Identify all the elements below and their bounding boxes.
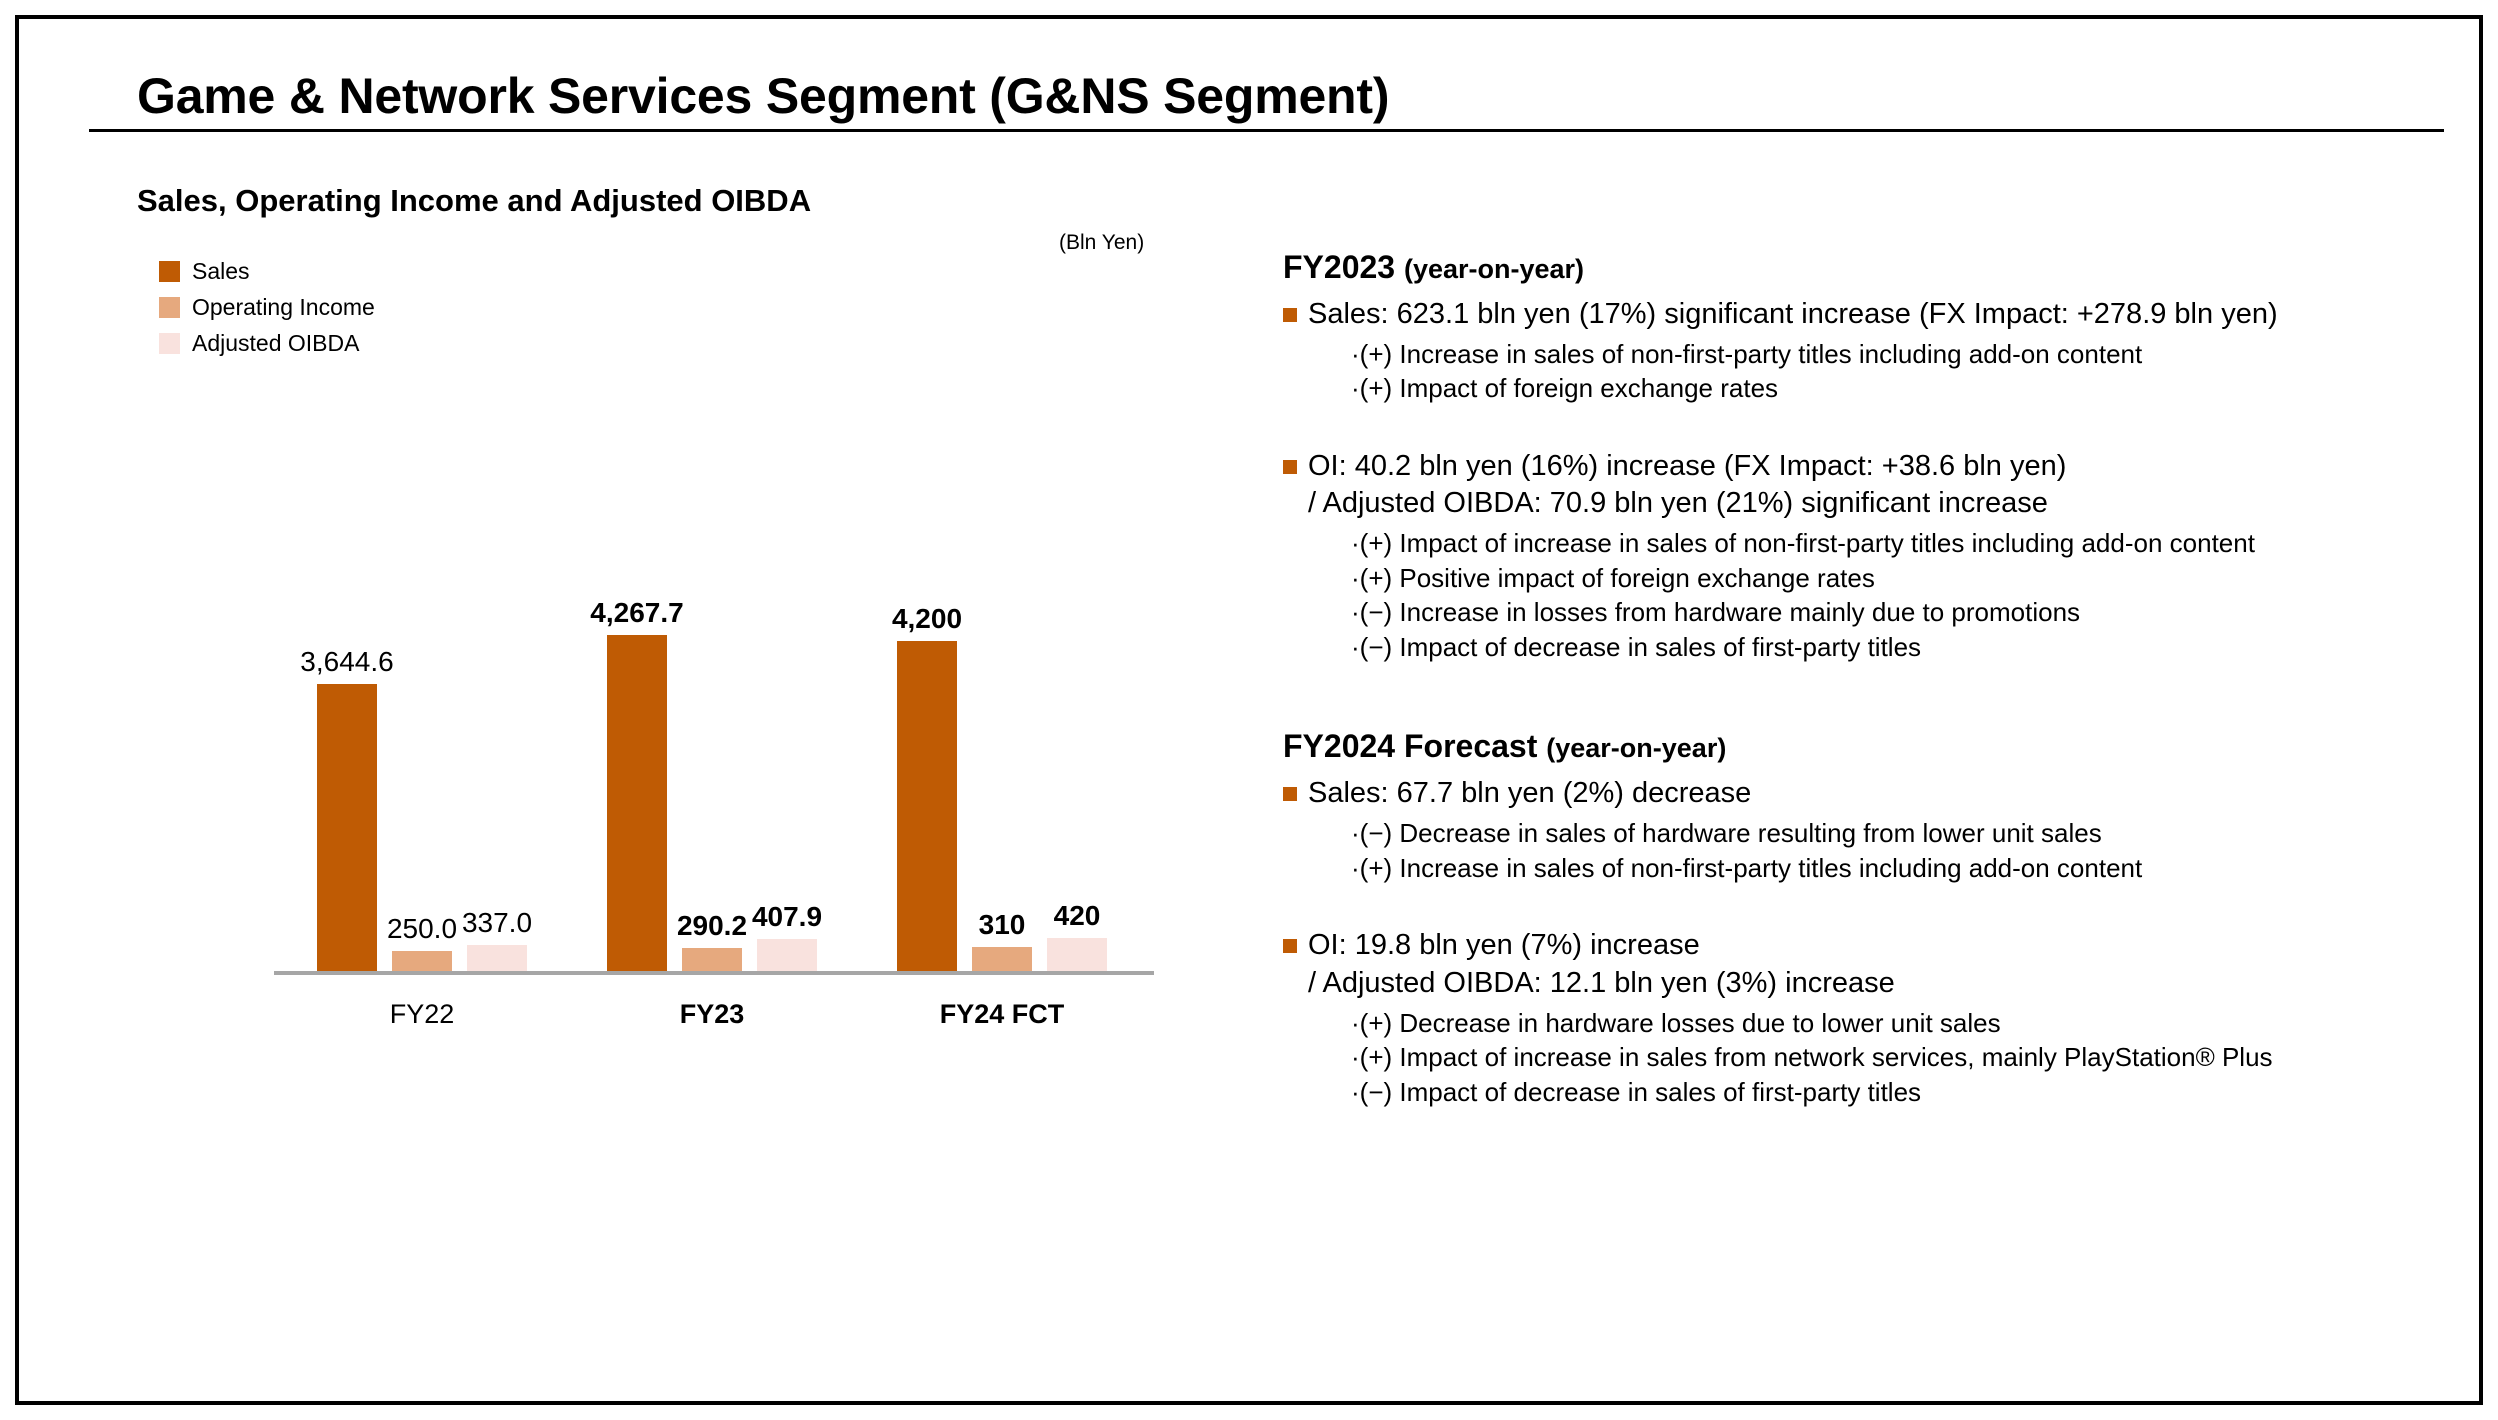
fy2024-oi-block: OI: 19.8 bln yen (7%) increase / Adjuste… [1283,927,2463,1109]
bar-value-label: 4,200 [817,603,1037,635]
bar-chart-plot: 3,644.6250.0337.04,267.7290.2407.94,2003… [274,509,1154,975]
bar-value-label: 420 [967,900,1187,932]
legend-item-label: Operating Income [192,296,375,319]
fy2023-sales-block: Sales: 623.1 bln yen (17%) significant i… [1283,296,2463,406]
bar-adjusted-oibda-fy24-fct [1047,938,1107,971]
fy2023-oi-text: OI: 40.2 bln yen (16%) increase (FX Impa… [1308,448,2066,486]
bullet-square-icon [1283,308,1297,322]
fy2023-heading: FY2023 (year-on-year) [1283,247,2463,288]
bar-group-fy23: 4,267.7290.2407.9 [607,505,817,971]
slide-frame: Game & Network Services Segment (G&NS Se… [15,15,2483,1405]
x-axis-label-fy22: FY22 [302,999,542,1030]
sub-line: ·(+) Impact of increase in sales from ne… [1351,1040,2463,1075]
legend-item-label: Sales [192,260,250,283]
sub-line: ·(+) Impact of increase in sales of non-… [1351,526,2463,561]
chart-legend: SalesOperating IncomeAdjusted OIBDA [159,253,375,361]
bar-operating-income-fy23 [682,948,742,971]
legend-item-label: Adjusted OIBDA [192,332,359,355]
fy2024-heading-main: FY2024 Forecast [1283,728,1537,764]
fy2024-oi-bullet: OI: 19.8 bln yen (7%) increase [1283,927,2463,965]
chart-panel: Sales, Operating Income and Adjusted OIB… [19,169,1199,1249]
fy2023-sales-bullet: Sales: 623.1 bln yen (17%) significant i… [1283,296,2463,334]
page-title-text: Game & Network Services Segment (G&NS Se… [137,67,2427,125]
title-underline [89,129,2444,132]
fy2023-oi-bullet: OI: 40.2 bln yen (16%) increase (FX Impa… [1283,448,2463,486]
sub-line: ·(+) Increase in sales of non-first-part… [1351,337,2463,372]
chart-title: Sales, Operating Income and Adjusted OIB… [137,183,811,219]
sub-line: ·(+) Positive impact of foreign exchange… [1351,561,2463,596]
sub-line: ·(−) Impact of decrease in sales of firs… [1351,1075,2463,1110]
fy2024-oi-text: OI: 19.8 bln yen (7%) increase [1308,927,1700,965]
chart-unit-label: (Bln Yen) [1059,231,1144,255]
legend-swatch-icon [159,297,180,318]
fy2023-sales-sublist: ·(+) Increase in sales of non-first-part… [1351,337,2463,406]
bar-operating-income-fy22 [392,951,452,971]
sub-line: ·(−) Impact of decrease in sales of firs… [1351,630,2463,665]
fy2024-heading-sub: (year-on-year) [1546,733,1726,763]
fy2024-oibda-text: / Adjusted OIBDA: 12.1 bln yen (3%) incr… [1308,965,2463,1003]
bullet-square-icon [1283,460,1297,474]
x-axis-label-fy24-fct: FY24 FCT [882,999,1122,1030]
x-axis-label-fy23: FY23 [592,999,832,1030]
fy2023-sales-text: Sales: 623.1 bln yen (17%) significant i… [1308,296,2278,334]
bar-adjusted-oibda-fy22 [467,945,527,972]
fy2024-heading: FY2024 Forecast (year-on-year) [1283,726,2463,767]
legend-swatch-icon [159,261,180,282]
bar-value-label: 4,267.7 [527,597,747,629]
legend-item-operating-income: Operating Income [159,289,375,325]
sub-line: ·(+) Increase in sales of non-first-part… [1351,851,2463,886]
fy2024-sales-text: Sales: 67.7 bln yen (2%) decrease [1308,775,1751,813]
fy2023-heading-main: FY2023 [1283,249,1395,285]
sub-line: ·(+) Impact of foreign exchange rates [1351,371,2463,406]
fy2024-sales-block: Sales: 67.7 bln yen (2%) decrease ·(−) D… [1283,775,2463,885]
bar-adjusted-oibda-fy23 [757,939,817,971]
section-fy2024-forecast: FY2024 Forecast (year-on-year) Sales: 67… [1283,726,2463,1109]
legend-item-sales: Sales [159,253,375,289]
legend-item-adjusted-oibda: Adjusted OIBDA [159,325,375,361]
page-title: Game & Network Services Segment (G&NS Se… [137,67,2427,125]
commentary-panel: FY2023 (year-on-year) Sales: 623.1 bln y… [1283,247,2463,1109]
fy2024-sales-sublist: ·(−) Decrease in sales of hardware resul… [1351,816,2463,885]
fy2023-oi-block: OI: 40.2 bln yen (16%) increase (FX Impa… [1283,448,2463,665]
bar-group-fy24-fct: 4,200310420 [897,505,1107,971]
bullet-square-icon [1283,787,1297,801]
sub-line: ·(+) Decrease in hardware losses due to … [1351,1006,2463,1041]
bullet-square-icon [1283,939,1297,953]
bar-group-fy22: 3,644.6250.0337.0 [317,505,527,971]
section-fy2023: FY2023 (year-on-year) Sales: 623.1 bln y… [1283,247,2463,664]
fy2023-heading-sub: (year-on-year) [1404,254,1584,284]
sub-line: ·(−) Decrease in sales of hardware resul… [1351,816,2463,851]
x-axis-line [274,971,1154,975]
fy2024-oi-sublist: ·(+) Decrease in hardware losses due to … [1351,1006,2463,1110]
fy2023-oi-sublist: ·(+) Impact of increase in sales of non-… [1351,526,2463,664]
bar-value-label: 407.9 [677,901,897,933]
legend-swatch-icon [159,333,180,354]
bar-value-label: 3,644.6 [237,646,457,678]
x-axis-category-labels: FY22FY23FY24 FCT [274,999,1154,1045]
bar-operating-income-fy24-fct [972,947,1032,971]
fy2024-sales-bullet: Sales: 67.7 bln yen (2%) decrease [1283,775,2463,813]
sub-line: ·(−) Increase in losses from hardware ma… [1351,595,2463,630]
bar-value-label: 337.0 [387,907,607,939]
fy2023-oibda-text: / Adjusted OIBDA: 70.9 bln yen (21%) sig… [1308,485,2463,523]
